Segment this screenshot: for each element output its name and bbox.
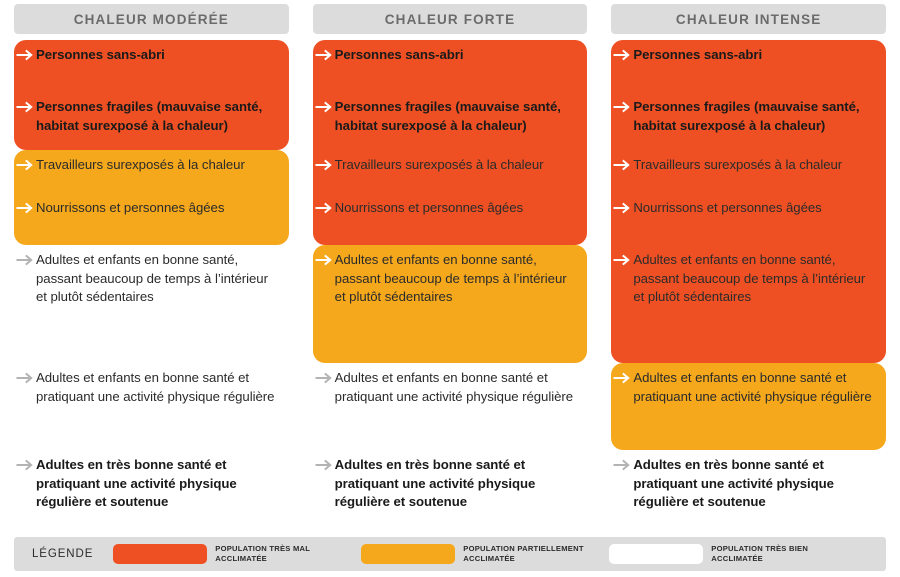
cell-label: Nourrissons et personnes âgées <box>335 199 523 218</box>
arrow-right-icon <box>315 101 332 113</box>
cell-moderee-adultes-enfants-activite-reguliere: Adultes et enfants en bonne santé et pra… <box>14 363 289 450</box>
arrow-right-icon <box>315 459 332 471</box>
arrow-right-icon <box>315 254 332 266</box>
cell-label: Nourrissons et personnes âgées <box>36 199 224 218</box>
legend-item-tres-mal-acclimatee: POPULATION TRÈS MAL ACCLIMATÉE <box>113 544 343 564</box>
arrow-right-icon <box>613 202 630 214</box>
cell-intense-sans-abri: Personnes sans-abri <box>611 40 886 92</box>
cell-label: Travailleurs surexposés à la chaleur <box>36 156 245 175</box>
cell-intense-adultes-tres-bonne-sante: Adultes en très bonne santé et pratiquan… <box>611 450 886 522</box>
legend-label-partiellement-acclimatee: POPULATION PARTIELLEMENT ACCLIMATÉE <box>463 544 591 563</box>
arrow-right-icon <box>315 372 332 384</box>
legend-label-tres-mal-acclimatee: POPULATION TRÈS MAL ACCLIMATÉE <box>215 544 343 563</box>
cell-label: Personnes fragiles (mauvaise santé, habi… <box>36 98 275 135</box>
cell-intense-adultes-enfants-activite-reguliere: Adultes et enfants en bonne santé et pra… <box>611 363 886 450</box>
legend-swatch-partiellement-acclimatee <box>361 544 455 564</box>
cell-label: Adultes et enfants en bonne santé et pra… <box>36 369 275 406</box>
cell-intense-personnes-fragiles: Personnes fragiles (mauvaise santé, habi… <box>611 92 886 150</box>
cell-intense-adultes-enfants-sedentaires: Adultes et enfants en bonne santé, passa… <box>611 245 886 363</box>
arrow-right-icon <box>16 254 33 266</box>
arrow-right-icon <box>613 254 630 266</box>
arrow-right-icon <box>16 49 33 61</box>
legend-items: POPULATION TRÈS MAL ACCLIMATÉEPOPULATION… <box>113 544 857 564</box>
cell-forte-adultes-enfants-activite-reguliere: Adultes et enfants en bonne santé et pra… <box>313 363 588 450</box>
cell-moderee-nourrissons-personnes-agees: Nourrissons et personnes âgées <box>14 193 289 245</box>
arrow-right-icon <box>613 159 630 171</box>
cell-forte-sans-abri: Personnes sans-abri <box>313 40 588 92</box>
cell-forte-travailleurs-surexposes: Travailleurs surexposés à la chaleur <box>313 150 588 193</box>
cell-forte-adultes-tres-bonne-sante: Adultes en très bonne santé et pratiquan… <box>313 450 588 522</box>
cell-label: Nourrissons et personnes âgées <box>633 199 821 218</box>
cell-moderee-adultes-enfants-sedentaires: Adultes et enfants en bonne santé, passa… <box>14 245 289 363</box>
cell-label: Travailleurs surexposés à la chaleur <box>335 156 544 175</box>
cell-label: Personnes sans-abri <box>633 46 762 65</box>
arrow-right-icon <box>613 101 630 113</box>
arrow-right-icon <box>315 159 332 171</box>
cell-moderee-sans-abri: Personnes sans-abri <box>14 40 289 92</box>
cell-label: Adultes et enfants en bonne santé et pra… <box>633 369 872 406</box>
cell-moderee-personnes-fragiles: Personnes fragiles (mauvaise santé, habi… <box>14 92 289 150</box>
risk-matrix-grid: Personnes sans-abriPersonnes sans-abriPe… <box>14 40 886 522</box>
arrow-right-icon <box>16 159 33 171</box>
arrow-right-icon <box>613 49 630 61</box>
arrow-right-icon <box>315 49 332 61</box>
cell-label: Personnes fragiles (mauvaise santé, habi… <box>335 98 574 135</box>
cell-forte-adultes-enfants-sedentaires: Adultes et enfants en bonne santé, passa… <box>313 245 588 363</box>
cell-label: Personnes fragiles (mauvaise santé, habi… <box>633 98 872 135</box>
legend-item-tres-bien-acclimatee: POPULATION TRÈS BIEN ACCLIMATÉE <box>609 544 839 564</box>
cell-label: Adultes et enfants en bonne santé, passa… <box>335 251 574 307</box>
cell-label: Adultes et enfants en bonne santé et pra… <box>335 369 574 406</box>
legend-swatch-tres-bien-acclimatee <box>609 544 703 564</box>
cell-label: Adultes et enfants en bonne santé, passa… <box>36 251 275 307</box>
cell-intense-travailleurs-surexposes: Travailleurs surexposés à la chaleur <box>611 150 886 193</box>
cell-forte-nourrissons-personnes-agees: Nourrissons et personnes âgées <box>313 193 588 245</box>
legend-swatch-tres-mal-acclimatee <box>113 544 207 564</box>
arrow-right-icon <box>613 459 630 471</box>
cell-label: Personnes sans-abri <box>36 46 165 65</box>
cell-label: Travailleurs surexposés à la chaleur <box>633 156 842 175</box>
cell-label: Adultes en très bonne santé et pratiquan… <box>633 456 872 512</box>
cell-moderee-travailleurs-surexposes: Travailleurs surexposés à la chaleur <box>14 150 289 193</box>
cell-label: Adultes et enfants en bonne santé, passa… <box>633 251 872 307</box>
cell-moderee-adultes-tres-bonne-sante: Adultes en très bonne santé et pratiquan… <box>14 450 289 522</box>
cell-label: Personnes sans-abri <box>335 46 464 65</box>
arrow-right-icon <box>16 459 33 471</box>
cell-forte-personnes-fragiles: Personnes fragiles (mauvaise santé, habi… <box>313 92 588 150</box>
legend-title: LÉGENDE <box>32 548 93 560</box>
arrow-right-icon <box>613 372 630 384</box>
cell-intense-nourrissons-personnes-agees: Nourrissons et personnes âgées <box>611 193 886 245</box>
arrow-right-icon <box>16 372 33 384</box>
cell-label: Adultes en très bonne santé et pratiquan… <box>36 456 275 512</box>
arrow-right-icon <box>315 202 332 214</box>
legend-label-tres-bien-acclimatee: POPULATION TRÈS BIEN ACCLIMATÉE <box>711 544 839 563</box>
legend: LÉGENDE POPULATION TRÈS MAL ACCLIMATÉEPO… <box>14 537 886 571</box>
arrow-right-icon <box>16 101 33 113</box>
infographic-root: CHALEUR MODÉRÉECHALEUR FORTECHALEUR INTE… <box>0 0 900 577</box>
arrow-right-icon <box>16 202 33 214</box>
legend-item-partiellement-acclimatee: POPULATION PARTIELLEMENT ACCLIMATÉE <box>361 544 591 564</box>
cell-label: Adultes en très bonne santé et pratiquan… <box>335 456 574 512</box>
